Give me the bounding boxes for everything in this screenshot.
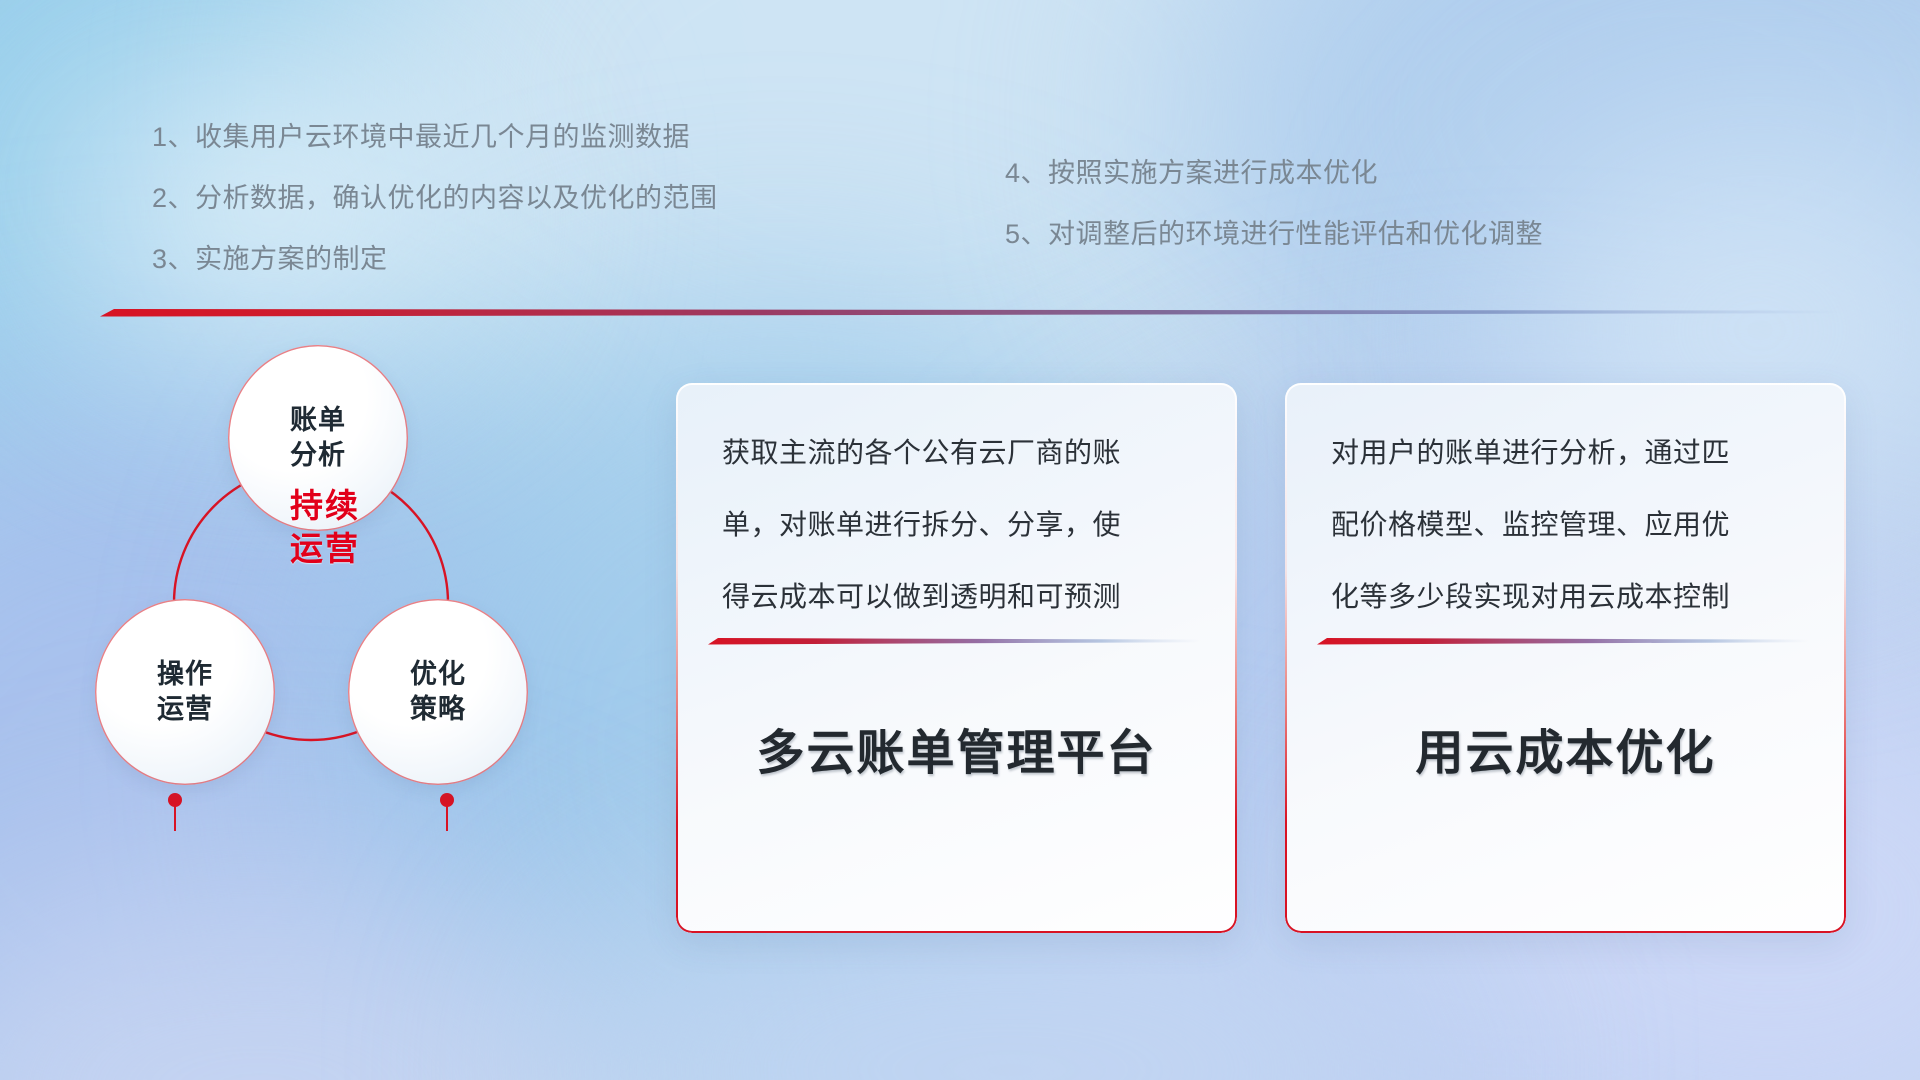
card-description: 对用户的账单进行分析，通过匹 配价格模型、监控管理、应用优 化等多少段实现对用云… [1331,439,1810,655]
slide-canvas: 1、收集用户云环境中最近几个月的监测数据 2、分析数据，确认优化的内容以及优化的… [0,0,1920,1080]
step-item-2: 2、分析数据，确认优化的内容以及优化的范围 [152,185,718,212]
step-item-4: 4、按照实施方案进行成本优化 [1005,160,1543,187]
section-divider [100,305,1842,319]
diagram-center-label: 持续 运营 [240,485,410,571]
diagram-lobe-label: 账单 分析 [290,403,346,472]
feature-card-multicloud-billing[interactable]: 获取主流的各个公有云厂商的账 单，对账单进行拆分、分享，使 得云成本可以做到透明… [676,383,1237,933]
feature-card-cloud-cost-optimization[interactable]: 对用户的账单进行分析，通过匹 配价格模型、监控管理、应用优 化等多少段实现对用云… [1285,383,1846,933]
card-rule [708,636,1200,646]
step-item-5: 5、对调整后的环境进行性能评估和优化调整 [1005,221,1543,248]
card-title: 多云账单管理平台 [676,713,1237,783]
cycle-node-right [440,793,454,807]
diagram-lobe-optimization-strategy[interactable]: 优化 策略 [348,599,528,785]
steps-list-left: 1、收集用户云环境中最近几个月的监测数据 2、分析数据，确认优化的内容以及优化的… [152,124,718,307]
card-description: 获取主流的各个公有云厂商的账 单，对账单进行拆分、分享，使 得云成本可以做到透明… [722,439,1201,655]
cycle-node-left [168,793,182,807]
diagram-lobe-operations[interactable]: 操作 运营 [95,599,275,785]
steps-list-right: 4、按照实施方案进行成本优化 5、对调整后的环境进行性能评估和优化调整 [1005,160,1543,282]
diagram-lobe-label: 操作 运营 [157,657,213,726]
continuous-operations-diagram: 账单 分析 操作 运营 优化 策略 持续 运营 [95,345,655,945]
diagram-lobe-label: 优化 策略 [410,657,466,726]
card-title: 用云成本优化 [1285,713,1846,783]
step-item-3: 3、实施方案的制定 [152,246,718,273]
card-rule [1317,636,1809,646]
step-item-1: 1、收集用户云环境中最近几个月的监测数据 [152,124,718,151]
